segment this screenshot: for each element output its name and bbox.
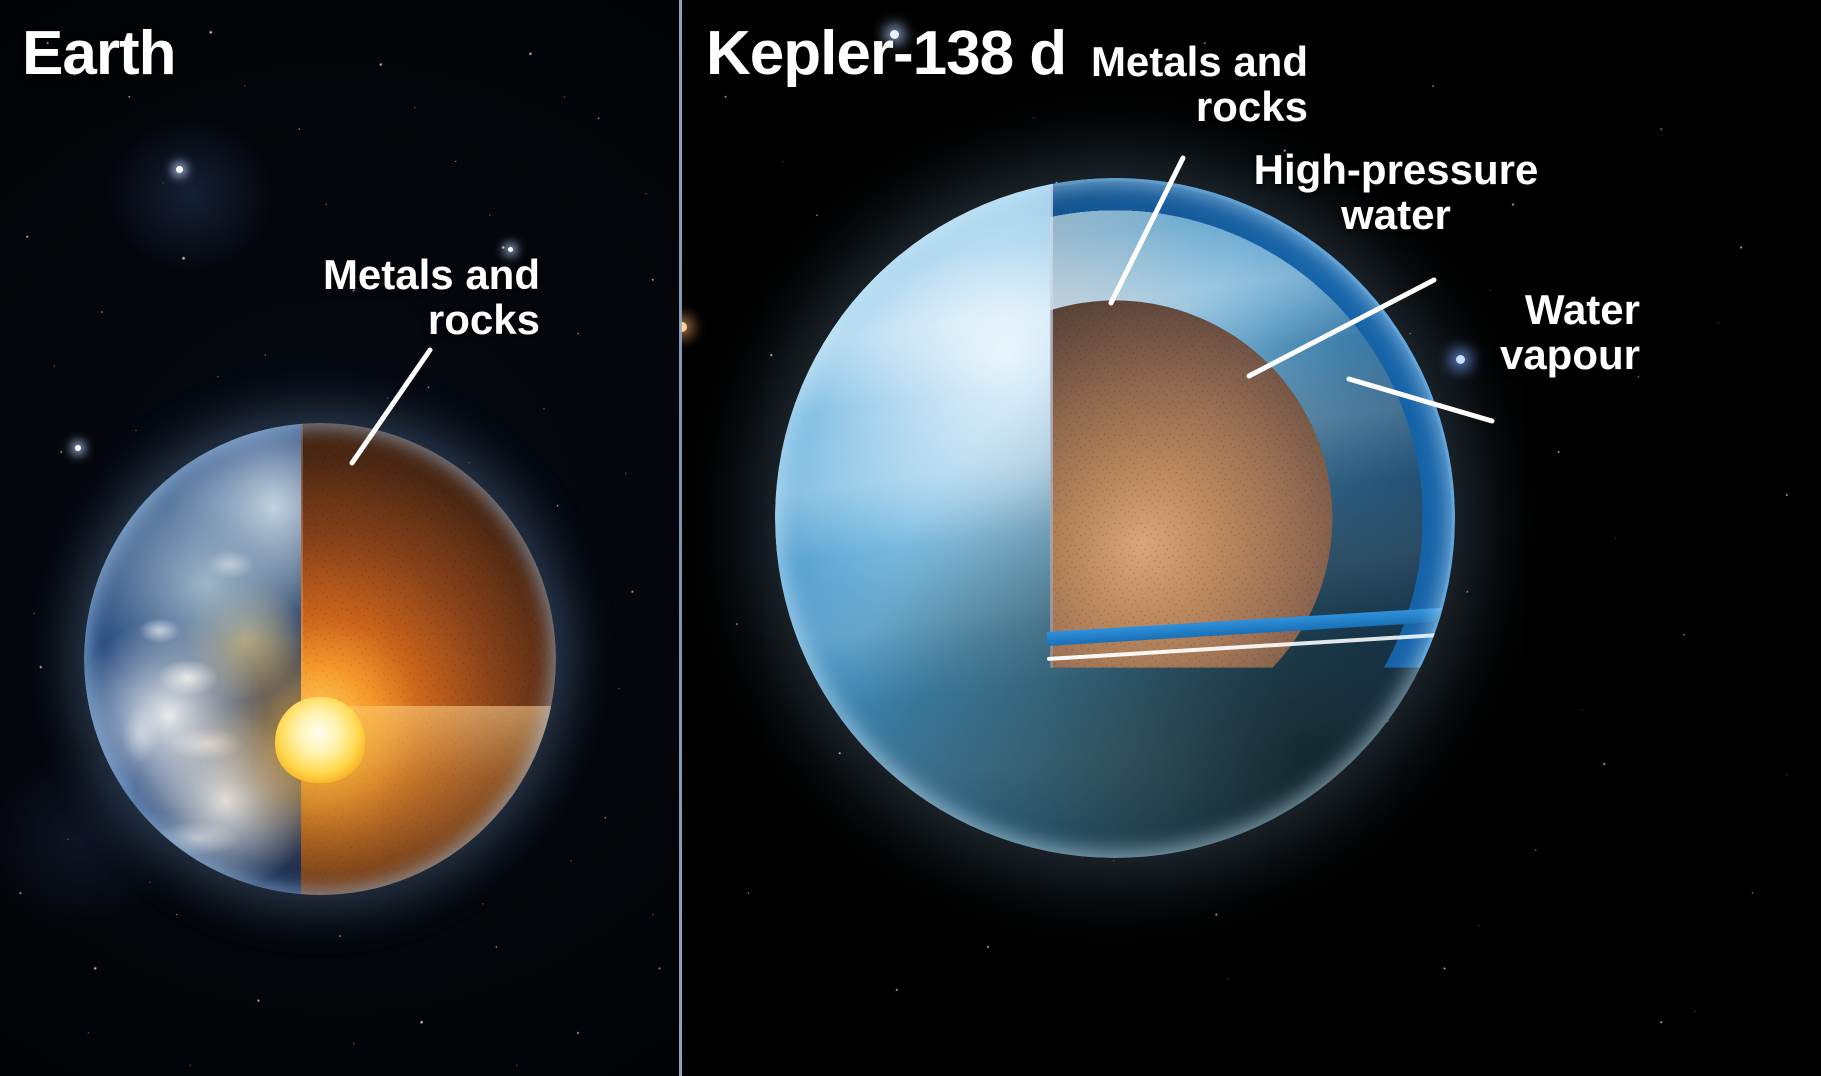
label-kepler-water-vapour: Water vapour <box>1400 288 1640 377</box>
panel-divider <box>679 0 682 1076</box>
kepler-globe <box>775 178 1455 858</box>
panel-title-earth: Earth <box>22 18 175 89</box>
earth-globe <box>84 423 556 895</box>
label-earth-metals-and-rocks: Metals and rocks <box>300 253 540 342</box>
label-kepler-metals-and-rocks: Metals and rocks <box>1018 40 1308 129</box>
bright-star <box>75 445 81 451</box>
earth-core-layer <box>275 697 365 783</box>
earth-cut-seam <box>301 423 303 716</box>
panel-title-kepler-138-d: Kepler-138 d <box>706 18 1066 89</box>
kepler-limb-glow <box>775 178 1455 858</box>
label-kepler-high-pressure-water: High-pressure water <box>1246 148 1546 237</box>
bright-star <box>176 166 183 173</box>
panel-earth: Earth Metals and rocks <box>0 0 680 1076</box>
panel-kepler-138-d: Kepler-138 d Metals and rocks High-press… <box>680 0 1821 1076</box>
